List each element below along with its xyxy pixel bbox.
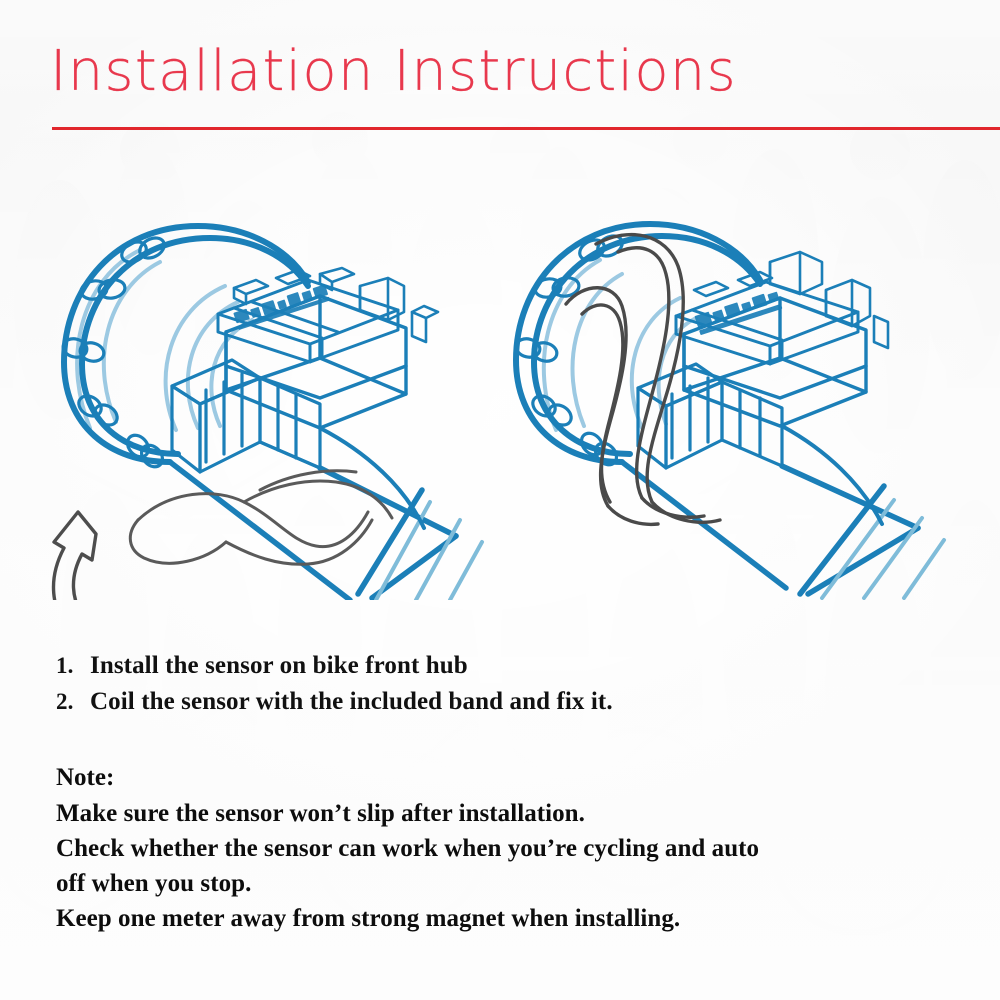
note-line-1: Make sure the sensor won’t slip after in…: [56, 796, 966, 831]
step-number: 2.: [56, 686, 90, 719]
note-line-2: Check whether the sensor can work when y…: [56, 831, 966, 866]
list-item: 1. Install the sensor on bike front hub: [56, 648, 956, 684]
step-1-illustration: [20, 190, 500, 600]
note-heading: Note:: [56, 760, 966, 796]
note-block: Note: Make sure the sensor won’t slip af…: [56, 760, 966, 936]
step-text: Install the sensor on bike front hub: [90, 648, 956, 684]
note-line-4: Keep one meter away from strong magnet w…: [56, 901, 966, 936]
instruction-sheet: Installation Instructions: [0, 0, 1000, 1000]
steps-list: 1. Install the sensor on bike front hub …: [56, 648, 956, 719]
page-title: Installation Instructions: [50, 44, 737, 100]
list-item: 2. Coil the sensor with the included ban…: [56, 684, 956, 720]
step-2-illustration: [470, 190, 970, 600]
note-line-3: off when you stop.: [56, 866, 966, 901]
title-divider-rule: [52, 127, 1000, 130]
step-text: Coil the sensor with the included band a…: [90, 684, 956, 720]
step-number: 1.: [56, 650, 90, 683]
